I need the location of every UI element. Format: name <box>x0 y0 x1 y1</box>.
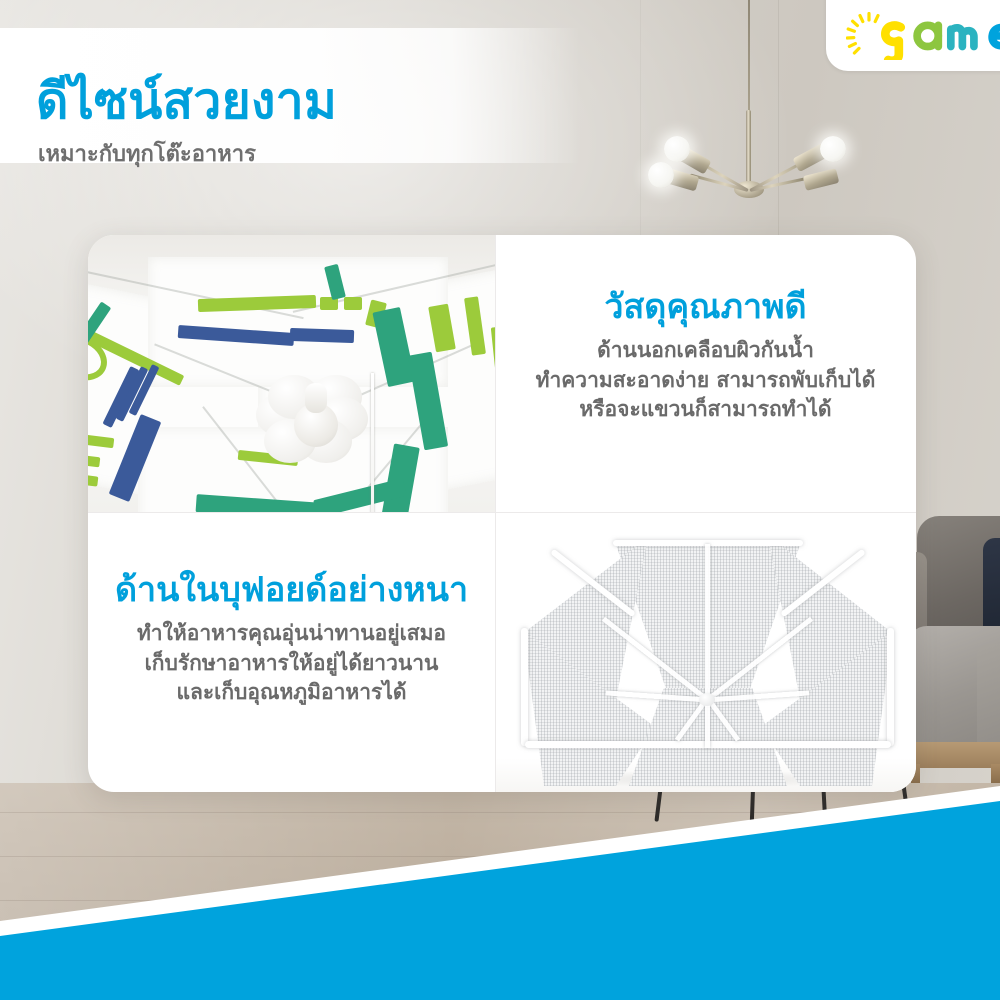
logo-badge[interactable] <box>826 0 1000 71</box>
feature-line: ทำให้อาหารคุณอุ่นน่าทานอยู่เสมอ <box>96 619 487 649</box>
hanging-cord <box>371 373 374 512</box>
feature-card: วัสดุคุณภาพดี ด้านนอกเคลือบผิวกันน้ำ ทำค… <box>88 235 916 792</box>
chandelier-socket <box>803 168 840 191</box>
feature-text-block: ด้านในบุฟอยด์อย่างหนา ทำให้อาหารคุณอุ่นน… <box>88 572 495 708</box>
foil-rim <box>521 628 528 746</box>
sofa-seat <box>977 644 1000 748</box>
feature-line: และเก็บอุณหภูมิอาหารได้ <box>96 678 487 708</box>
feature-text-block: วัสดุคุณภาพดี ด้านนอกเคลือบผิวกันน้ำ ทำค… <box>495 289 916 425</box>
photo-canvas <box>88 235 495 512</box>
page-title: ดีไซน์สวยงาม <box>36 76 337 126</box>
feature-heading: วัสดุคุณภาพดี <box>511 289 900 326</box>
photo-canvas <box>495 512 916 792</box>
logo-wordmark <box>868 8 1000 60</box>
print-motif <box>344 297 362 310</box>
product-banner: ดีไซน์สวยงาม เหมาะกับทุกโต๊ะอาหาร <box>0 0 1000 1000</box>
chandelier-bulb <box>648 162 674 188</box>
card-divider-vertical <box>495 235 496 792</box>
feature-foil-lining: ด้านในบุฟอยด์อย่างหนา ทำให้อาหารคุณอุ่นน… <box>88 512 495 792</box>
chandelier-stem <box>746 110 751 188</box>
chandelier-bulb <box>820 136 846 162</box>
foil-rim <box>887 628 894 746</box>
feature-line: ทำความสะอาดง่าย สามารถพับเก็บได้ <box>511 366 900 396</box>
page-subtitle: เหมาะกับทุกโต๊ะอาหาร <box>38 144 256 166</box>
hub-post <box>305 383 327 413</box>
food-cover-dome <box>88 257 495 512</box>
print-motif <box>290 328 354 343</box>
foil-center-hub <box>699 693 715 706</box>
foil-bowl <box>523 538 891 786</box>
gray-sofa <box>905 516 1000 794</box>
food-cover-top-photo <box>88 235 495 512</box>
feature-grid: วัสดุคุณภาพดี ด้านนอกเคลือบผิวกันน้ำ ทำค… <box>88 235 916 792</box>
header-banner: ดีไซน์สวยงาม เหมาะกับทุกโต๊ะอาหาร <box>0 28 580 163</box>
feature-heading: ด้านในบุฟอยด์อย่างหนา <box>96 572 487 609</box>
feature-line: หรือจะแขวนก็สามารถทำได้ <box>511 395 900 425</box>
chandelier-bulb <box>664 136 690 162</box>
card-divider-horizontal <box>88 512 916 513</box>
foil-rib <box>705 544 710 700</box>
feature-line: เก็บรักษาอาหารให้อยู่ได้ยาวนาน <box>96 649 487 679</box>
feature-line: ด้านนอกเคลือบผิวกันน้ำ <box>511 336 900 366</box>
game-logo <box>846 10 1000 62</box>
plastic-hub <box>256 375 368 467</box>
feature-material-quality: วัสดุคุณภาพดี ด้านนอกเคลือบผิวกันน้ำ ทำค… <box>495 235 916 512</box>
foil-interior-photo <box>495 512 916 792</box>
